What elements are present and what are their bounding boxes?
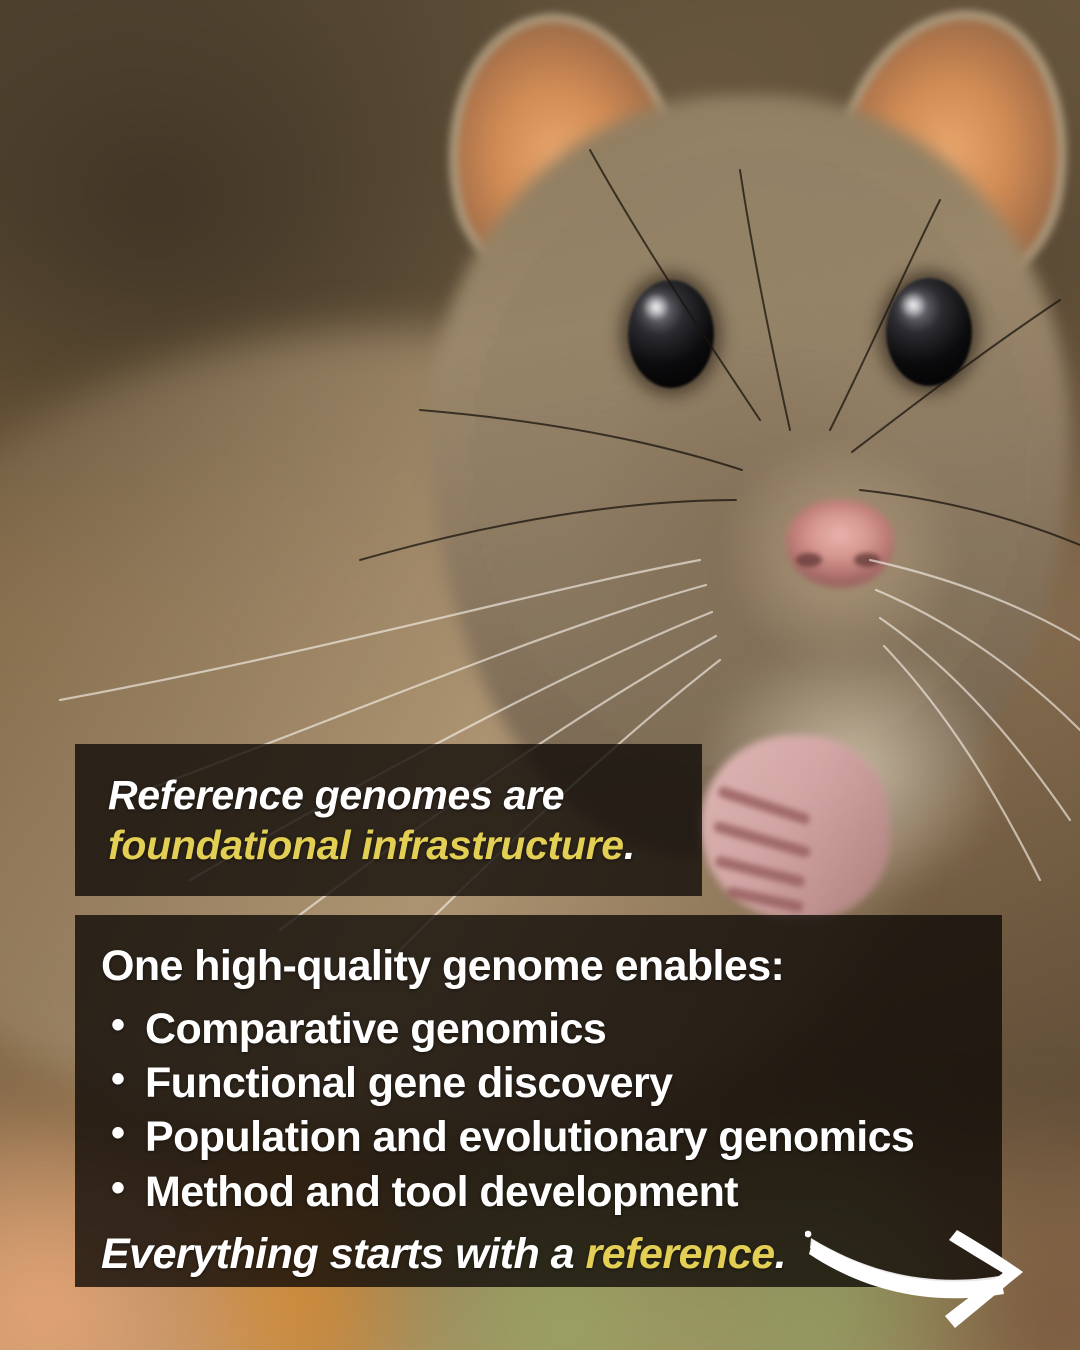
headline-accent-text: foundational infrastructure	[108, 822, 624, 868]
rat-nostril-right	[854, 553, 880, 567]
closing-period: .	[775, 1230, 786, 1278]
closing-line: Everything starts with a reference.	[101, 1231, 1002, 1278]
headline-line-2: foundational infrastructure.	[108, 820, 702, 870]
rat-nose	[786, 500, 894, 588]
closing-prefix: Everything starts with a	[101, 1230, 586, 1278]
body-lead-text: One high-quality genome enables:	[101, 945, 1002, 988]
list-item: Comparative genomics	[101, 1002, 1002, 1056]
headline-period: .	[624, 822, 635, 868]
benefits-list: Comparative genomics Functional gene dis…	[101, 1002, 1002, 1219]
headline-panel: Reference genomes are foundational infra…	[75, 744, 702, 896]
list-item: Population and evolutionary genomics	[101, 1110, 1002, 1164]
poster-canvas: Reference genomes are foundational infra…	[0, 0, 1080, 1350]
body-panel: One high-quality genome enables: Compara…	[75, 915, 1002, 1287]
rat-nostril-left	[796, 553, 822, 567]
headline-line-1: Reference genomes are	[108, 770, 702, 820]
closing-accent-text: reference	[586, 1230, 775, 1278]
list-item: Functional gene discovery	[101, 1056, 1002, 1110]
rat-eye-right-highlight	[900, 290, 926, 320]
rat-eye-right	[886, 278, 972, 386]
rat-eye-left-highlight	[643, 292, 669, 322]
list-item: Method and tool development	[101, 1165, 1002, 1219]
rat-eye-left	[628, 280, 714, 388]
